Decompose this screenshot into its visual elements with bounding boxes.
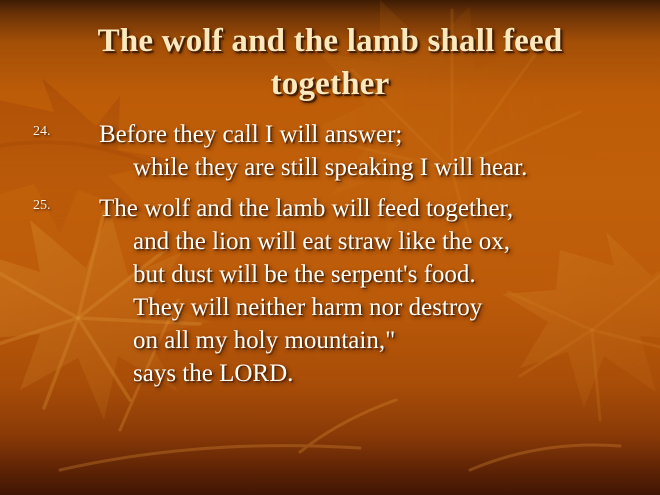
verse-line: They will neither harm nor destroy bbox=[99, 291, 650, 324]
verse-item: 25. The wolf and the lamb will feed toge… bbox=[0, 192, 660, 390]
slide-body: 24. Before they call I will answer; whil… bbox=[0, 118, 660, 398]
verse-line: but dust will be the serpent's food. bbox=[99, 258, 650, 291]
verse-text: Before they call I will answer; while th… bbox=[99, 118, 650, 184]
title-line-2: together bbox=[0, 63, 660, 106]
verse-line: and the lion will eat straw like the ox, bbox=[99, 225, 650, 258]
verse-line: on all my holy mountain," bbox=[99, 324, 650, 357]
verse-line: while they are still speaking I will hea… bbox=[99, 151, 650, 184]
slide-title: The wolf and the lamb shall feed togethe… bbox=[0, 20, 660, 106]
verse-line: The wolf and the lamb will feed together… bbox=[99, 192, 650, 225]
verse-number: 25. bbox=[33, 199, 51, 213]
title-line-1: The wolf and the lamb shall feed bbox=[0, 20, 660, 63]
verse-line: says the LORD. bbox=[99, 357, 650, 390]
verse-number: 24. bbox=[33, 125, 51, 139]
verse-line: Before they call I will answer; bbox=[99, 118, 650, 151]
verse-text: The wolf and the lamb will feed together… bbox=[99, 192, 650, 390]
verse-item: 24. Before they call I will answer; whil… bbox=[0, 118, 660, 184]
presentation-slide: The wolf and the lamb shall feed togethe… bbox=[0, 0, 660, 495]
